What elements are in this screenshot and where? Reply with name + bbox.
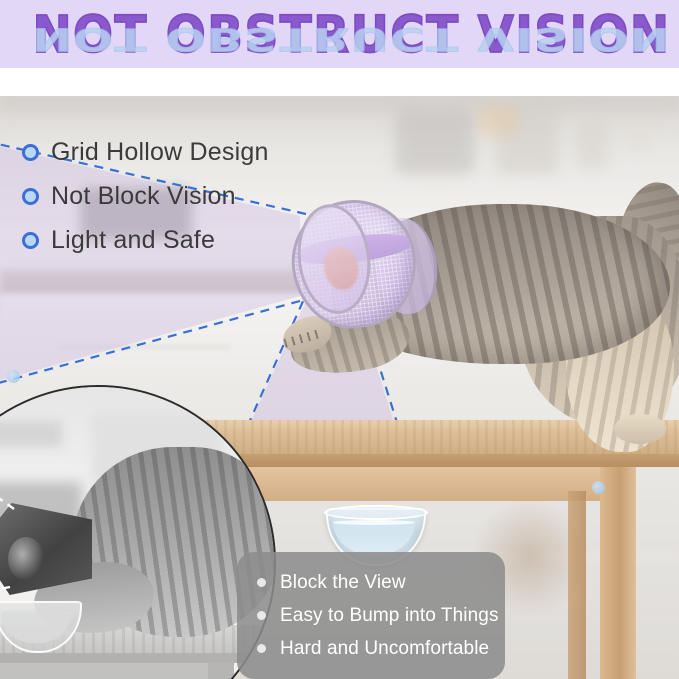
ring-bullet-icon: [22, 188, 39, 205]
drawback-label: Hard and Uncomfortable: [280, 638, 489, 660]
cat-face: [322, 244, 361, 292]
table-leg-rear: [568, 491, 586, 679]
feature-label: Not Block Vision: [51, 182, 236, 211]
feature-label: Grid Hollow Design: [51, 138, 269, 167]
list-item: Block the View: [257, 566, 487, 599]
table-leg-front: [600, 467, 636, 679]
list-item: Not Block Vision: [22, 174, 322, 218]
comparison-inset: [0, 385, 276, 679]
inset-dash-upper: [0, 449, 14, 509]
drawback-label: Easy to Bump into Things: [280, 605, 499, 627]
product-infographic: NOT OBSTRUCT VISION NOT OBSTRUCT VISION: [0, 0, 679, 679]
list-item: Grid Hollow Design: [22, 130, 322, 174]
ring-bullet-icon: [22, 232, 39, 249]
dot-bullet-icon: [257, 611, 266, 620]
ring-bullet-icon: [22, 144, 39, 161]
list-item: Light and Safe: [22, 218, 322, 262]
header-white-strip: [0, 68, 679, 96]
list-item: Easy to Bump into Things: [257, 599, 487, 632]
inset-blocked-vision-overlay: [0, 387, 274, 679]
table-peg-2: [592, 481, 605, 494]
feature-label: Light and Safe: [51, 226, 215, 255]
inset-photo: [0, 387, 274, 679]
dot-bullet-icon: [257, 578, 266, 587]
bowl-waterline: [333, 520, 415, 525]
drawbacks-callout: Block the View Easy to Bump into Things …: [237, 552, 505, 679]
inset-dash-lower: [0, 587, 10, 605]
list-item: Hard and Uncomfortable: [257, 632, 487, 665]
header-band: [0, 0, 679, 68]
cat-hind-paw: [614, 414, 666, 444]
dot-bullet-icon: [257, 644, 266, 653]
feature-list: Grid Hollow Design Not Block Vision Ligh…: [22, 130, 322, 262]
table-peg-1: [7, 370, 20, 383]
drawback-label: Block the View: [280, 572, 406, 594]
bowl-rim: [324, 505, 428, 520]
